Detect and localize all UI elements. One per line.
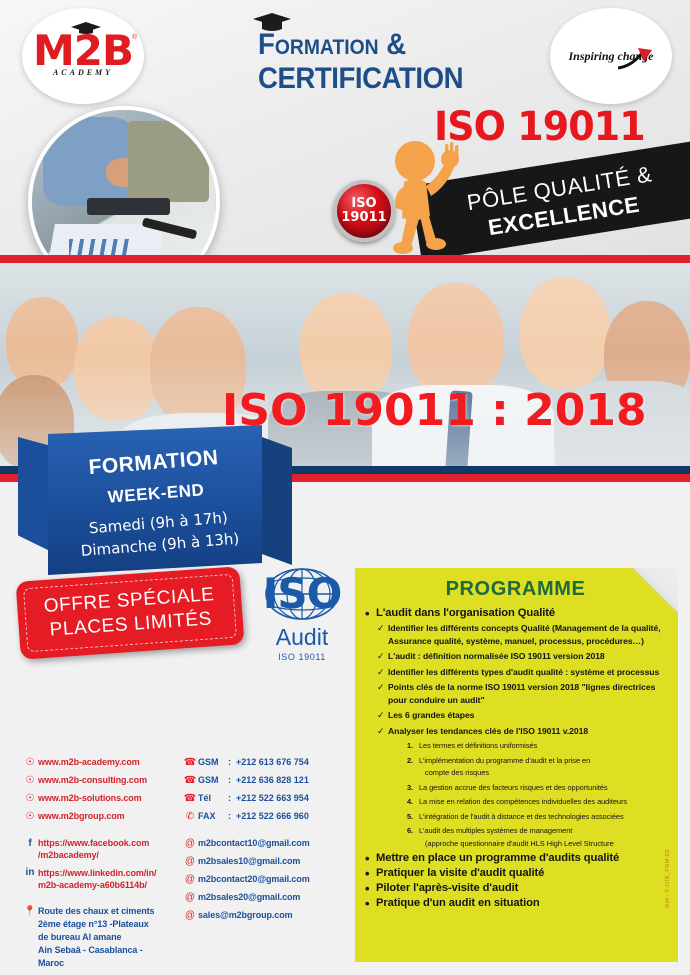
photo-keyboard <box>87 198 170 215</box>
website-row[interactable]: ☉www.m2b-academy.com <box>22 756 182 769</box>
email-row[interactable]: @m2bsales10@gmail.com <box>182 855 352 868</box>
growth-arrow-icon <box>618 48 652 70</box>
globe-icon: ☉ <box>22 810 38 823</box>
address-text: Route des chaux et ciments2ème étage n°1… <box>38 905 154 970</box>
spacer <box>182 828 352 837</box>
programme-check-item: Points clés de la norme ISO 19011 versio… <box>377 681 668 706</box>
website-text: www.m2b-consulting.com <box>38 774 147 786</box>
programme-numbered-item: 6.L'audit des multiples systèmes de mana… <box>407 825 668 837</box>
socials-list: fhttps://www.facebook.com/m2bacademy/inh… <box>22 837 182 891</box>
programme-bullet: Pratiquer la visite d'audit qualité <box>365 867 668 879</box>
iso-audit-word: ISO <box>254 572 350 616</box>
social-url: https://www.linkedin.com/in/m2b-academy-… <box>38 867 156 891</box>
programme-numbered-item: 4.La mise en relation des compétences in… <box>407 796 668 808</box>
spacer <box>22 828 182 837</box>
registered-mark: ® <box>132 34 137 41</box>
location-pin-icon: 📍 <box>22 905 38 918</box>
programme-reference: Réf : F-DIR_FRM-02 <box>665 849 671 908</box>
iso-audit-subtitle: Audit <box>254 624 350 651</box>
website-text: www.m2b-academy.com <box>38 756 140 768</box>
at-icon: @ <box>182 909 198 922</box>
phone-icon: ☎ <box>182 792 198 805</box>
address-row: 📍 Route des chaux et ciments2ème étage n… <box>22 905 182 970</box>
fax-icon: ✆ <box>182 810 198 823</box>
special-offer-badge: OFFRE SPÉCIALE PLACES LIMITÉS <box>16 566 245 659</box>
contact-column-right: ☎GSM: +212 613 676 754☎GSM: +212 636 828… <box>182 756 352 927</box>
header-band: M2B ® ACADEMY Formation & CERTIFICATION … <box>0 0 690 258</box>
social-row[interactable]: inhttps://www.linkedin.com/in/m2b-academ… <box>22 867 182 891</box>
programme-check-item: Analyser les tendances clés de l'ISO 190… <box>377 725 668 738</box>
phone-row[interactable]: ✆FAX: +212 522 666 960 <box>182 810 352 823</box>
phone-row[interactable]: ☎GSM: +212 613 676 754 <box>182 756 352 769</box>
programme-bullet: Piloter l'après-visite d'audit <box>365 882 668 894</box>
social-url: https://www.facebook.com/m2bacademy/ <box>38 837 149 861</box>
graduation-cap-icon <box>71 22 101 35</box>
whatsapp-icon: ☎ <box>182 774 198 787</box>
m2b-logo: M2B ® ACADEMY <box>31 28 135 84</box>
programme-check-item: L'audit : définition normalisée ISO 1901… <box>377 650 668 663</box>
header-title-line1: Formation & <box>258 28 497 62</box>
phone-text: GSM: +212 613 676 754 <box>198 756 309 768</box>
contact-column-left: ☉www.m2b-academy.com☉www.m2b-consulting.… <box>22 756 182 975</box>
programme-list: L'audit dans l'organisation QualitéIdent… <box>363 607 668 909</box>
phone-text: FAX: +212 522 666 960 <box>198 810 309 822</box>
email-row[interactable]: @m2bcontact20@gmail.com <box>182 873 352 886</box>
phone-icon: ☎ <box>182 756 198 769</box>
phone-row[interactable]: ☎GSM: +212 636 828 121 <box>182 774 352 787</box>
website-row[interactable]: ☉www.m2b-consulting.com <box>22 774 182 787</box>
emails-list: @m2bcontact10@gmail.com@m2bsales10@gmail… <box>182 837 352 922</box>
linkedin-icon: in <box>22 867 38 880</box>
website-text: www.m2b-solutions.com <box>38 792 142 804</box>
iso-seal-line2: 19011 <box>341 211 386 225</box>
email-text: m2bsales20@gmail.com <box>198 891 300 903</box>
social-row[interactable]: fhttps://www.facebook.com/m2bacademy/ <box>22 837 182 861</box>
poster-root: M2B ® ACADEMY Formation & CERTIFICATION … <box>0 0 690 975</box>
at-icon: @ <box>182 837 198 850</box>
divider-red-top <box>0 255 690 263</box>
email-row[interactable]: @m2bsales20@gmail.com <box>182 891 352 904</box>
email-text: sales@m2bgroup.com <box>198 909 293 921</box>
contact-block: ☉www.m2b-academy.com☉www.m2b-consulting.… <box>0 748 352 975</box>
phone-text: Tél: +212 522 663 954 <box>198 792 309 804</box>
at-icon: @ <box>182 873 198 886</box>
programme-numbered-item: 3.La gestion accrue des facteurs risques… <box>407 782 668 794</box>
websites-list: ☉www.m2b-academy.com☉www.m2b-consulting.… <box>22 756 182 823</box>
globe-icon: ☉ <box>22 792 38 805</box>
iso-seal-badge: ISO 19011 <box>333 180 395 242</box>
header-title-line2: CERTIFICATION <box>258 62 497 96</box>
programme-check-item: Identifier les différents types d'audit … <box>377 666 668 679</box>
programme-bullet: Mettre en place un programme d'audits qu… <box>365 852 668 864</box>
programme-title: PROGRAMME <box>363 578 668 601</box>
m2b-logo-badge: M2B ® ACADEMY <box>22 8 144 104</box>
at-icon: @ <box>182 855 198 868</box>
website-row[interactable]: ☉www.m2b-solutions.com <box>22 792 182 805</box>
iso-seal-line1: ISO <box>351 197 376 211</box>
email-row[interactable]: @sales@m2bgroup.com <box>182 909 352 922</box>
programme-item-continuation: compte des risques <box>425 767 668 779</box>
spacer <box>22 896 182 905</box>
programme-numbered-item: 5.L'intégration de l'audit à distance et… <box>407 811 668 823</box>
photo-equipment <box>128 121 209 202</box>
phone-row[interactable]: ☎Tél: +212 522 663 954 <box>182 792 352 805</box>
at-icon: @ <box>182 891 198 904</box>
iso-audit-logo: ISO Audit ISO 19011 <box>254 572 350 676</box>
programme-numbered-item: 2.L'implémentation du programme d'audit … <box>407 755 668 767</box>
email-text: m2bcontact10@gmail.com <box>198 837 310 849</box>
programme-check-item: Identifier les différents concepts Quali… <box>377 622 668 647</box>
ribbon-text: FORMATION WEEK-END Samedi (9h à 17h) Dim… <box>46 425 267 562</box>
website-text: www.m2bgroup.com <box>38 810 125 822</box>
phone-text: GSM: +212 636 828 121 <box>198 774 309 786</box>
programme-numbered-item: 1.Les termes et définitions uniformisés <box>407 740 668 752</box>
email-row[interactable]: @m2bcontact10@gmail.com <box>182 837 352 850</box>
tagline-badge: Inspiring change <box>550 8 672 104</box>
email-text: m2bcontact20@gmail.com <box>198 873 310 885</box>
programme-bullet: Pratique d'un audit en situation <box>365 897 668 909</box>
programme-bullet: L'audit dans l'organisation Qualité <box>365 607 668 619</box>
phones-list: ☎GSM: +212 613 676 754☎GSM: +212 636 828… <box>182 756 352 823</box>
email-text: m2bsales10@gmail.com <box>198 855 300 867</box>
facebook-icon: f <box>22 837 38 850</box>
programme-check-item: Les 6 grandes étapes <box>377 709 668 722</box>
website-row[interactable]: ☉www.m2bgroup.com <box>22 810 182 823</box>
m2b-logo-sub: ACADEMY <box>31 68 135 77</box>
programme-item-continuation: (approche questionnaire d'audit HLS High… <box>425 838 668 850</box>
iso-standard-label: ISO 19011 <box>434 104 645 150</box>
globe-icon: ☉ <box>22 774 38 787</box>
globe-icon: ☉ <box>22 756 38 769</box>
iso-audit-standard: ISO 19011 <box>254 652 350 662</box>
ribbon-line2: WEEK-END <box>50 476 263 513</box>
header-title: Formation & CERTIFICATION <box>258 28 497 96</box>
mascot-figure-icon <box>388 138 462 256</box>
programme-panel: PROGRAMME L'audit dans l'organisation Qu… <box>355 568 678 962</box>
